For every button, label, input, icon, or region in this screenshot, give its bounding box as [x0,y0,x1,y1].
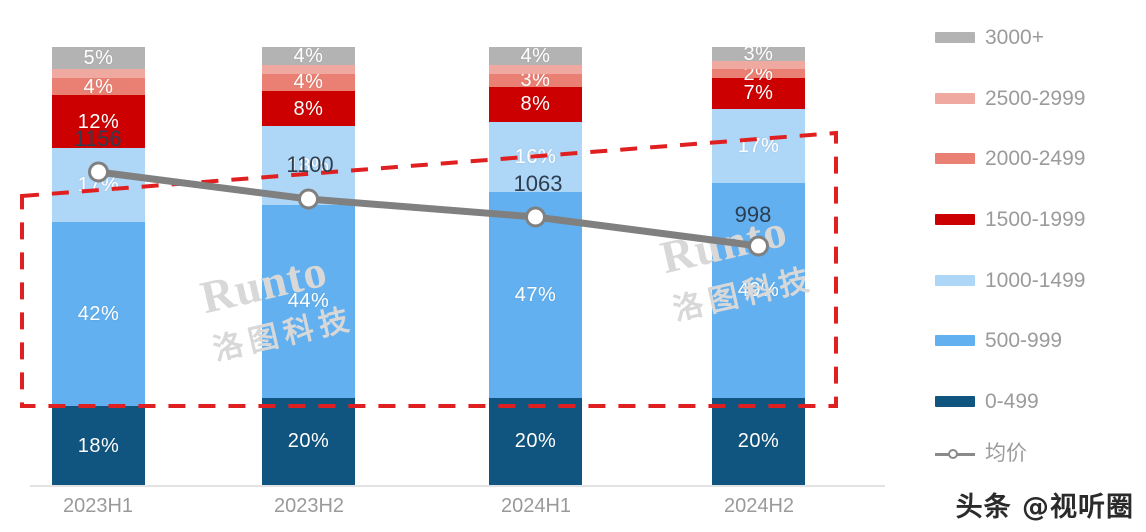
avg-price-label-2024H1: 1063 [514,171,563,197]
legend-item-1500-1999[interactable]: 1500-1999 [935,209,1085,230]
legend-swatch-icon [935,93,975,104]
line-marker-icon [935,447,975,461]
legend-label: 1000-1499 [985,270,1085,291]
stacked-bar-chart: Runto 洛图科技 Runto 洛图科技 18% 42% 17% 12% 4%… [0,0,1146,532]
legend-label: 3000+ [985,27,1044,48]
bar-2023H2[interactable]: 20% 44% 18% 8% 4% 4% [262,47,355,485]
x-tick-2023H1: 2023H1 [18,495,178,518]
avg-price-label-2023H1: 1156 [74,126,121,152]
bar-2023H1[interactable]: 18% 42% 17% 12% 4% 5% [52,47,145,485]
segment-1000-1499: 17% [52,148,145,222]
segment-3000-plus: 4% [262,47,355,65]
segment-2000-2499: 3% [489,74,582,87]
segment-3000-plus: 4% [489,47,582,65]
segment-0-499: 20% [489,398,582,486]
legend-item-2000-2499[interactable]: 2000-2499 [935,148,1085,169]
plot-area: Runto 洛图科技 Runto 洛图科技 18% 42% 17% 12% 4%… [0,0,910,532]
segment-0-499: 20% [712,398,805,486]
legend-item-average-price[interactable]: 均价 [935,443,1027,464]
legend-label: 1500-1999 [985,209,1085,230]
x-tick-2024H2: 2024H2 [679,495,839,518]
brand-watermark: 头条 @视听圈 [956,485,1134,524]
legend-swatch-icon [935,214,975,225]
segment-2000-2499: 2% [712,69,805,78]
segment-500-999: 47% [489,192,582,398]
legend-item-2500-2999[interactable]: 2500-2999 [935,88,1085,109]
segment-2000-2499: 4% [52,78,145,96]
segment-500-999: 42% [52,222,145,406]
segment-0-499: 20% [262,398,355,486]
segment-500-999: 44% [262,205,355,398]
legend-swatch-icon [935,275,975,286]
segment-3000-plus: 5% [52,47,145,69]
legend-item-3000-plus[interactable]: 3000+ [935,27,1044,48]
segment-1000-1499: 17% [712,109,805,183]
legend-item-1000-1499[interactable]: 1000-1499 [935,270,1085,291]
avg-price-label-2023H2: 1100 [286,152,333,178]
legend-swatch-icon [935,396,975,407]
segment-3000-plus: 3% [712,47,805,60]
legend-swatch-icon [935,335,975,346]
chart-legend: 3000+ 2500-2999 2000-2499 1500-1999 1000… [925,0,1146,532]
avg-price-label-2024H2: 998 [735,202,772,228]
legend-item-0-499[interactable]: 0-499 [935,391,1039,412]
legend-item-500-999[interactable]: 500-999 [935,330,1062,351]
segment-2500-2999 [52,69,145,78]
legend-swatch-icon [935,32,975,43]
legend-label: 均价 [985,443,1027,464]
x-axis-line [30,485,885,487]
legend-swatch-icon [935,153,975,164]
segment-0-499: 18% [52,406,145,485]
segment-1500-1999: 8% [262,91,355,126]
bar-2024H1[interactable]: 20% 47% 16% 8% 3% 4% [489,47,582,485]
bar-2024H2[interactable]: 20% 49% 17% 7% 2% 3% [712,47,805,485]
legend-label: 2500-2999 [985,88,1085,109]
legend-label: 500-999 [985,330,1062,351]
legend-label: 2000-2499 [985,148,1085,169]
segment-1500-1999: 8% [489,87,582,122]
segment-2000-2499: 4% [262,74,355,92]
legend-label: 0-499 [985,391,1039,412]
x-tick-2024H1: 2024H1 [456,495,616,518]
x-tick-2023H2: 2023H2 [229,495,389,518]
